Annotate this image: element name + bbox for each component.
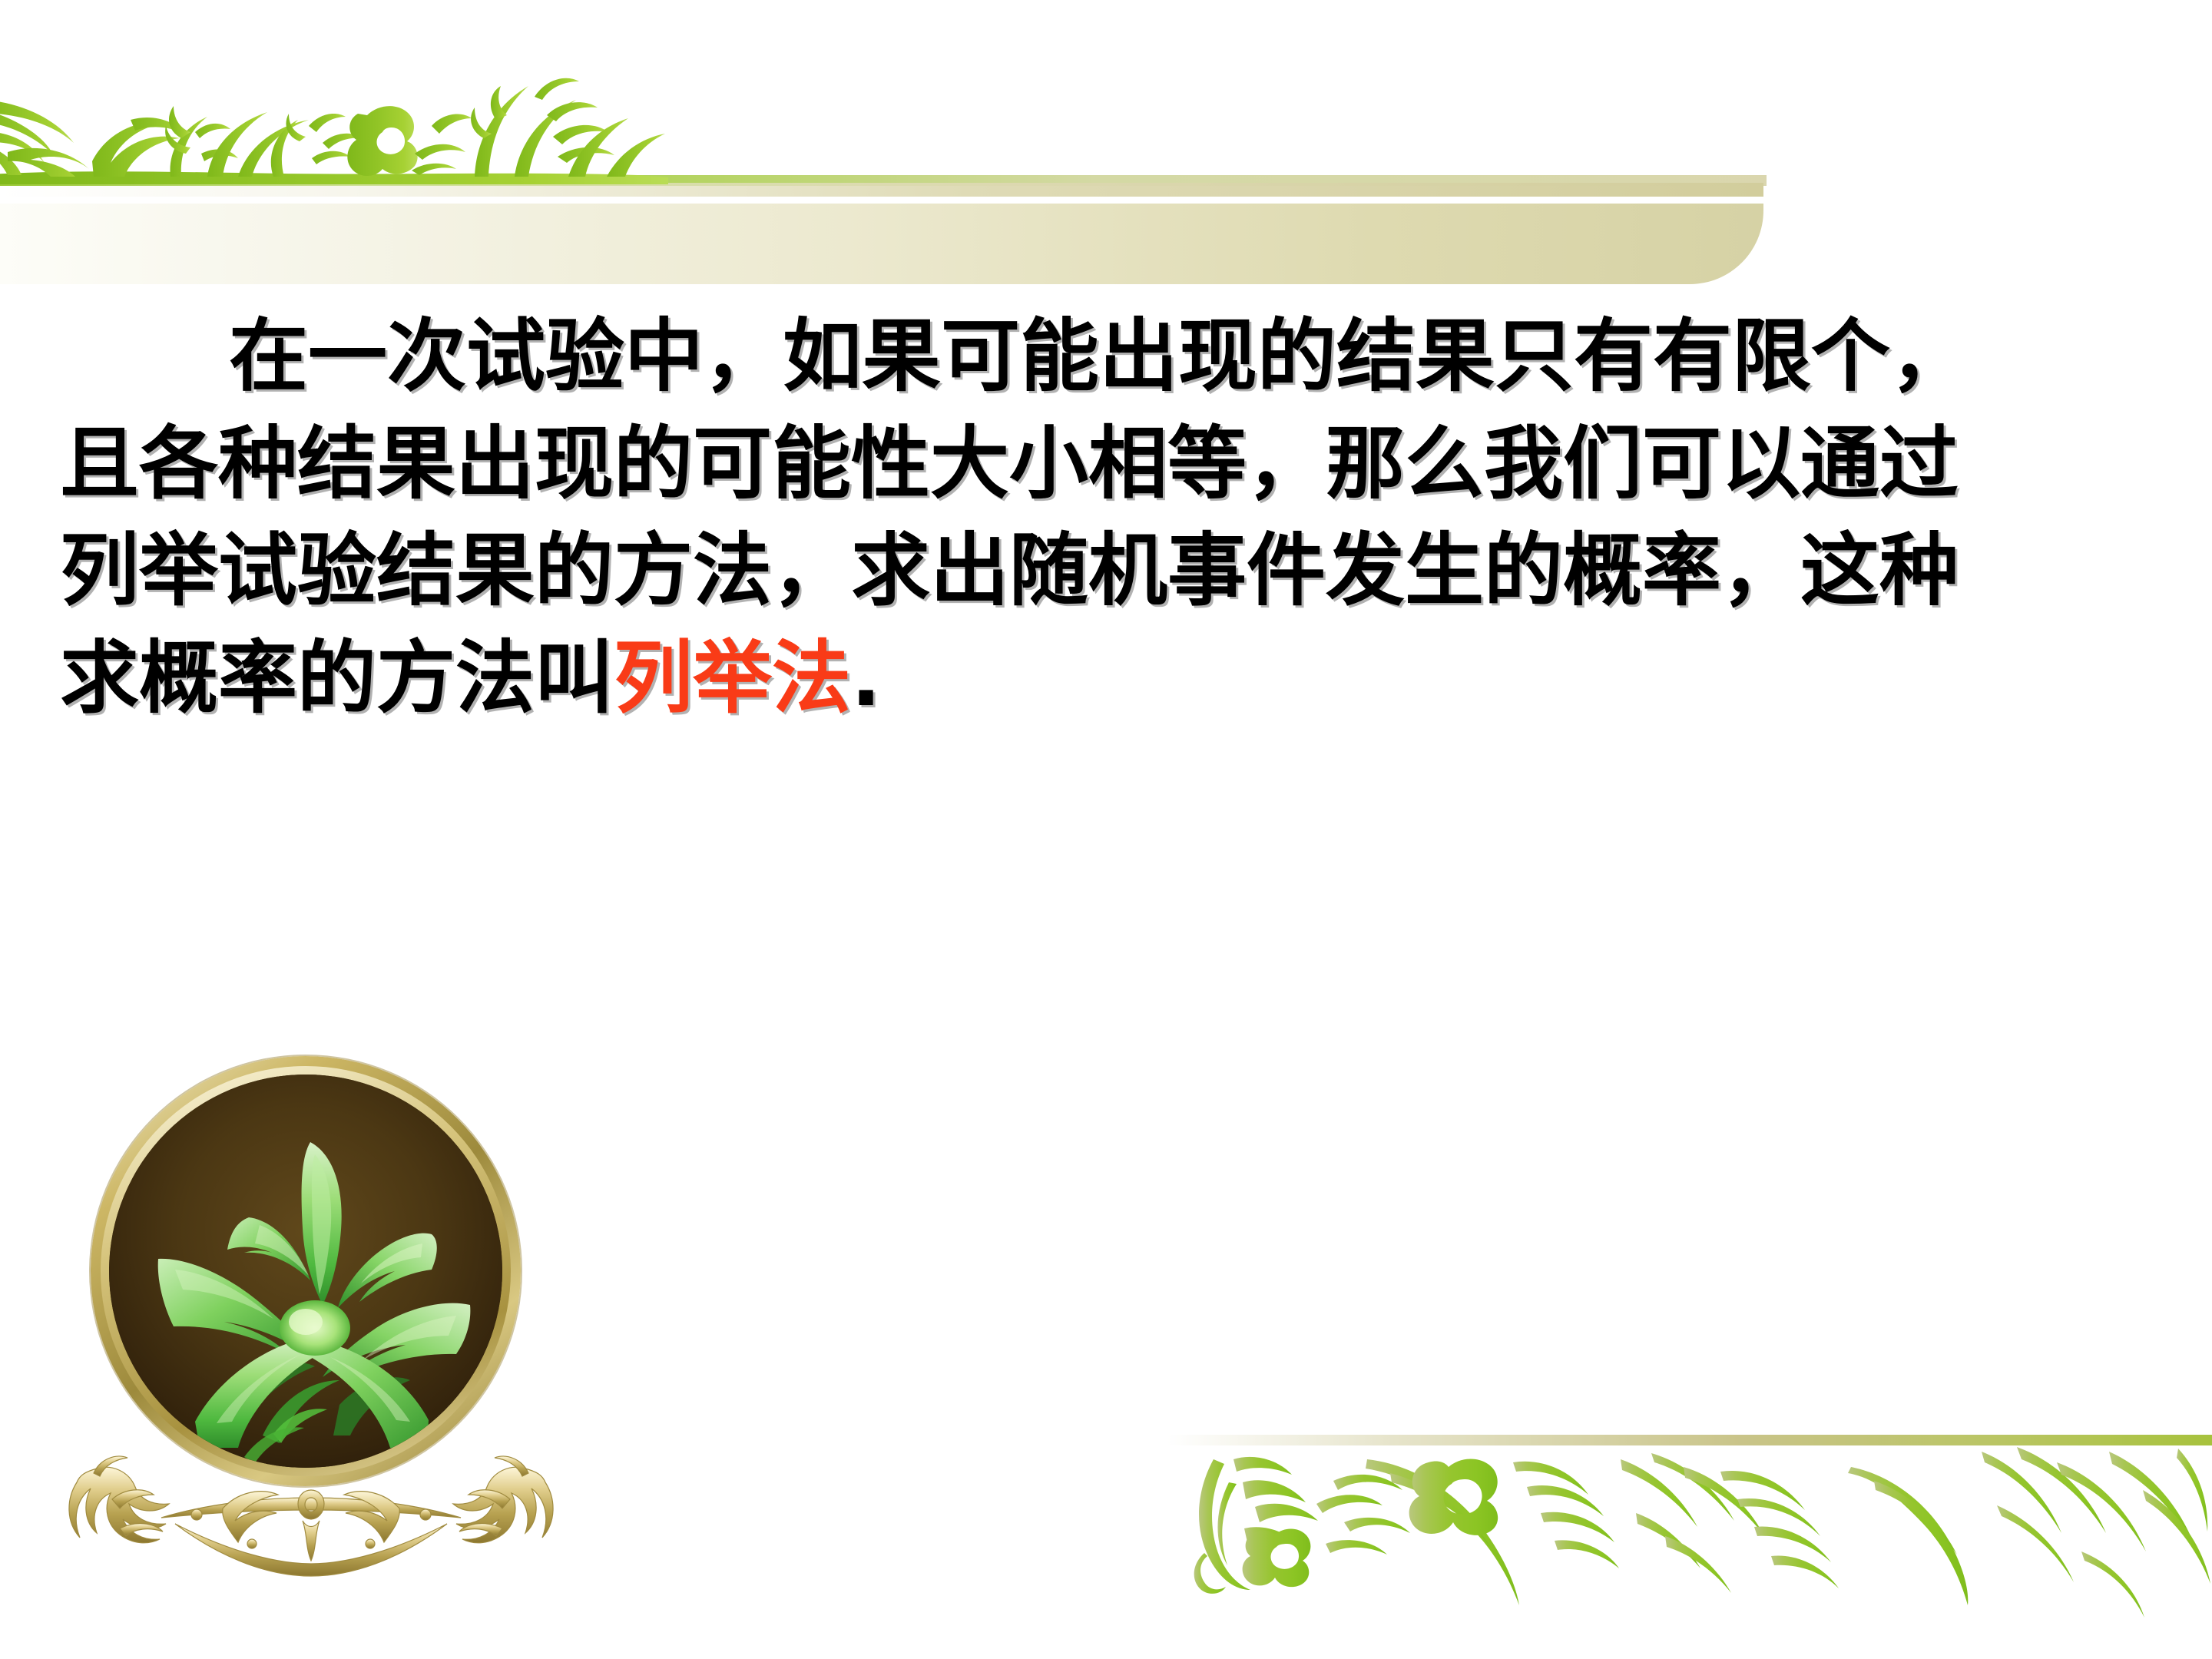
paragraph-line-2: 且各种结果出现的可能性大小相等，那么我们可以通过 [60, 418, 1959, 510]
highlight-term-enumeration-method: 列举法 [614, 632, 851, 724]
slide-body-paragraph: 在一次试验中，如果可能出现的结果只有有限个， 且各种结果出现的可能性大小相等，那… [60, 303, 2164, 732]
tan-curved-banner [0, 204, 1763, 284]
green-lily-plant-icon [109, 1075, 502, 1468]
top-banner-decoration [0, 0, 2212, 323]
gold-scroll-ornament-icon [46, 1429, 576, 1594]
paragraph-line-1: 在一次试验中，如果可能出现的结果只有有限个， [229, 310, 1969, 402]
medallion-photo-green-lily-plant [109, 1075, 502, 1468]
banner-hairline-rule [0, 183, 1763, 197]
paragraph-line-4-suffix: . [851, 632, 881, 724]
green-floral-grass-border-icon [0, 46, 714, 188]
tan-green-rule [1167, 1435, 2212, 1445]
banner-green-rule [0, 175, 1767, 186]
paragraph-line-4-prefix: 求概率的方法叫 [60, 632, 614, 724]
gold-framed-plant-medallion [91, 1056, 536, 1609]
green-floral-vine-border-icon [1114, 1436, 2212, 1651]
bottom-right-decoration [1014, 1406, 2212, 1659]
paragraph-line-3: 列举试验结果的方法，求出随机事件发生的概率，这种 [60, 525, 1959, 617]
